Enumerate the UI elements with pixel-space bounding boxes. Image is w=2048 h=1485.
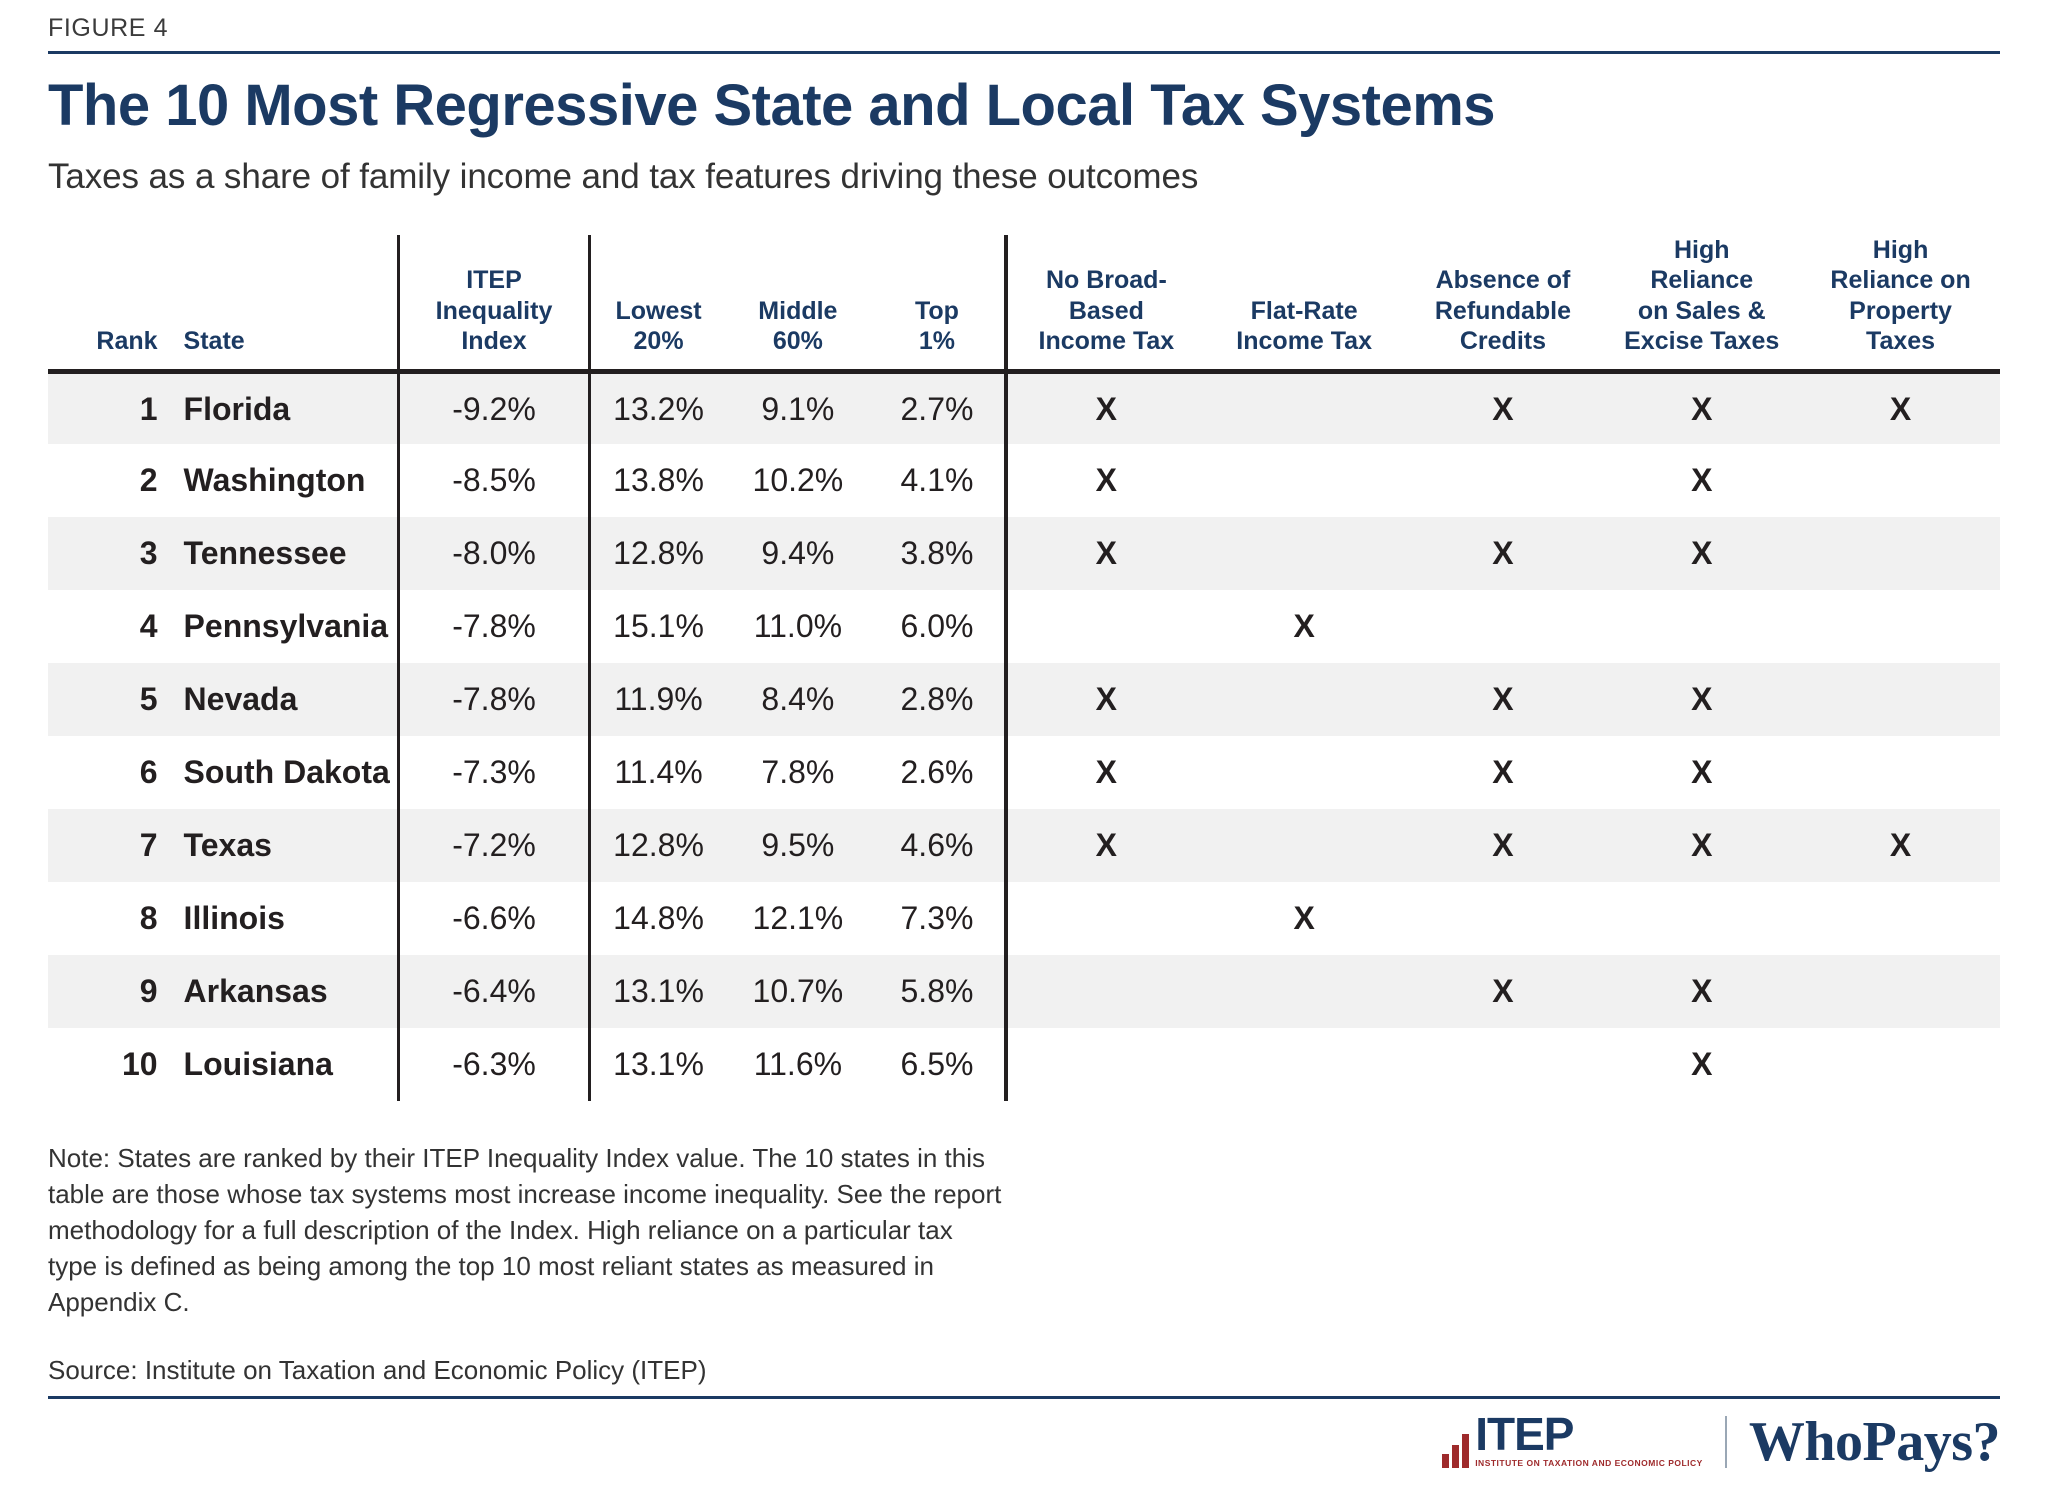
header-line-1: High <box>1801 235 2000 266</box>
table-row: 7Texas-7.2%12.8%9.5%4.6%XXXX <box>48 809 2000 882</box>
header-line-2: Inequality <box>400 296 589 327</box>
cell-flat-rate-income-tax <box>1205 809 1404 882</box>
cell-itep-index: -8.5% <box>398 444 590 517</box>
column-header-high-reliance-property: High Reliance on Property Taxes <box>1801 235 2000 372</box>
table-row: 9Arkansas-6.4%13.1%10.7%5.8%XX <box>48 955 2000 1028</box>
cell-flat-rate-income-tax: X <box>1205 590 1404 663</box>
cell-flat-rate-income-tax <box>1205 517 1404 590</box>
cell-flat-rate-income-tax <box>1205 736 1404 809</box>
header-line-4: Taxes <box>1801 326 2000 357</box>
cell-absence-refundable-credits <box>1404 590 1603 663</box>
cell-absence-refundable-credits: X <box>1404 371 1603 444</box>
cell-absence-refundable-credits <box>1404 444 1603 517</box>
cell-middle-60: 9.5% <box>726 809 870 882</box>
cell-high-reliance-property <box>1801 955 2000 1028</box>
cell-itep-index: -6.4% <box>398 955 590 1028</box>
cell-lowest-20: 13.8% <box>590 444 726 517</box>
cell-high-reliance-sales-excise: X <box>1602 444 1801 517</box>
header-line-3: Credits <box>1404 326 1603 357</box>
column-header-rank: Rank <box>48 235 170 372</box>
header-line-3: on Sales & <box>1602 296 1801 327</box>
header-text-state: State <box>184 327 245 355</box>
cell-top-1: 4.6% <box>870 809 1006 882</box>
cell-top-1: 2.6% <box>870 736 1006 809</box>
cell-flat-rate-income-tax: X <box>1205 882 1404 955</box>
cell-middle-60: 8.4% <box>726 663 870 736</box>
column-header-top-1: Top 1% <box>870 235 1006 372</box>
cell-high-reliance-property <box>1801 590 2000 663</box>
cell-high-reliance-property <box>1801 444 2000 517</box>
cell-top-1: 6.0% <box>870 590 1006 663</box>
table-row: 3Tennessee-8.0%12.8%9.4%3.8%XXX <box>48 517 2000 590</box>
cell-no-broad-based-income-tax: X <box>1006 517 1205 590</box>
column-header-no-broad-based-income-tax: No Broad- Based Income Tax <box>1006 235 1205 372</box>
cell-state: Texas <box>170 809 399 882</box>
header-line-1: Absence of <box>1404 265 1603 296</box>
header-line-2: Income Tax <box>1205 326 1404 357</box>
cell-no-broad-based-income-tax <box>1006 882 1205 955</box>
regressive-tax-table: Rank State ITEP Inequality Index Lowest … <box>48 235 2000 1102</box>
cell-high-reliance-property: X <box>1801 371 2000 444</box>
cell-rank: 8 <box>48 882 170 955</box>
cell-high-reliance-property <box>1801 736 2000 809</box>
cell-lowest-20: 13.1% <box>590 955 726 1028</box>
cell-absence-refundable-credits <box>1404 882 1603 955</box>
cell-lowest-20: 15.1% <box>590 590 726 663</box>
bottom-rule <box>48 1396 2000 1399</box>
itep-wordmark: ITEP <box>1475 1416 1703 1454</box>
cell-state: Nevada <box>170 663 399 736</box>
column-header-state: State <box>170 235 399 372</box>
cell-itep-index: -6.3% <box>398 1028 590 1101</box>
cell-state: Arkansas <box>170 955 399 1028</box>
cell-lowest-20: 12.8% <box>590 517 726 590</box>
cell-flat-rate-income-tax <box>1205 663 1404 736</box>
page-title: The 10 Most Regressive State and Local T… <box>48 54 2000 137</box>
cell-high-reliance-sales-excise: X <box>1602 371 1801 444</box>
cell-rank: 9 <box>48 955 170 1028</box>
cell-top-1: 2.8% <box>870 663 1006 736</box>
header-line-1: Lowest <box>591 296 725 327</box>
column-header-absence-of-refundable-credits: Absence of Refundable Credits <box>1404 235 1603 372</box>
cell-no-broad-based-income-tax <box>1006 1028 1205 1101</box>
header-line-2: Reliance <box>1602 265 1801 296</box>
table-container: Rank State ITEP Inequality Index Lowest … <box>48 197 2000 1102</box>
cell-flat-rate-income-tax <box>1205 955 1404 1028</box>
header-line-3: Income Tax <box>1008 326 1205 357</box>
cell-rank: 5 <box>48 663 170 736</box>
header-line-1: High <box>1602 235 1801 266</box>
cell-rank: 6 <box>48 736 170 809</box>
header-line-1: ITEP <box>400 265 589 296</box>
header-text-rank: Rank <box>96 327 157 355</box>
cell-middle-60: 9.1% <box>726 371 870 444</box>
cell-top-1: 7.3% <box>870 882 1006 955</box>
page-subtitle: Taxes as a share of family income and ta… <box>48 137 2000 197</box>
header-line-2: Reliance on <box>1801 265 2000 296</box>
table-note: Note: States are ranked by their ITEP In… <box>48 1101 1008 1320</box>
cell-high-reliance-property <box>1801 1028 2000 1101</box>
header-line-1: Flat-Rate <box>1205 296 1404 327</box>
cell-lowest-20: 11.9% <box>590 663 726 736</box>
header-line-1: Middle <box>726 296 870 327</box>
header-line-1: No Broad- <box>1008 265 1205 296</box>
cell-top-1: 3.8% <box>870 517 1006 590</box>
table-row: 4Pennsylvania-7.8%15.1%11.0%6.0%X <box>48 590 2000 663</box>
cell-state: Florida <box>170 371 399 444</box>
cell-no-broad-based-income-tax <box>1006 955 1205 1028</box>
column-header-middle-60: Middle 60% <box>726 235 870 372</box>
column-header-flat-rate-income-tax: Flat-Rate Income Tax <box>1205 235 1404 372</box>
cell-state: Washington <box>170 444 399 517</box>
cell-no-broad-based-income-tax: X <box>1006 371 1205 444</box>
cell-absence-refundable-credits: X <box>1404 663 1603 736</box>
cell-rank: 2 <box>48 444 170 517</box>
header-line-1: Top <box>870 296 1004 327</box>
bar-chart-icon <box>1442 1434 1469 1468</box>
cell-no-broad-based-income-tax: X <box>1006 809 1205 882</box>
header-line-2: 1% <box>870 326 1004 357</box>
table-row: 5Nevada-7.8%11.9%8.4%2.8%XXX <box>48 663 2000 736</box>
cell-rank: 7 <box>48 809 170 882</box>
cell-middle-60: 10.7% <box>726 955 870 1028</box>
cell-absence-refundable-credits <box>1404 1028 1603 1101</box>
cell-absence-refundable-credits: X <box>1404 955 1603 1028</box>
cell-no-broad-based-income-tax <box>1006 590 1205 663</box>
footer-logos: ITEP INSTITUTE ON TAXATION AND ECONOMIC … <box>1442 1405 2000 1479</box>
cell-middle-60: 12.1% <box>726 882 870 955</box>
cell-high-reliance-sales-excise: X <box>1602 663 1801 736</box>
cell-high-reliance-sales-excise: X <box>1602 955 1801 1028</box>
cell-flat-rate-income-tax <box>1205 371 1404 444</box>
column-header-high-reliance-sales-excise: High Reliance on Sales & Excise Taxes <box>1602 235 1801 372</box>
table-row: 1Florida-9.2%13.2%9.1%2.7%XXXX <box>48 371 2000 444</box>
cell-state: South Dakota <box>170 736 399 809</box>
cell-itep-index: -7.2% <box>398 809 590 882</box>
cell-middle-60: 10.2% <box>726 444 870 517</box>
cell-state: Louisiana <box>170 1028 399 1101</box>
cell-itep-index: -6.6% <box>398 882 590 955</box>
cell-flat-rate-income-tax <box>1205 1028 1404 1101</box>
cell-no-broad-based-income-tax: X <box>1006 736 1205 809</box>
header-line-3: Index <box>400 326 589 357</box>
cell-middle-60: 11.6% <box>726 1028 870 1101</box>
cell-lowest-20: 13.1% <box>590 1028 726 1101</box>
cell-middle-60: 9.4% <box>726 517 870 590</box>
cell-high-reliance-sales-excise: X <box>1602 1028 1801 1101</box>
cell-top-1: 6.5% <box>870 1028 1006 1101</box>
cell-flat-rate-income-tax <box>1205 444 1404 517</box>
cell-absence-refundable-credits: X <box>1404 809 1603 882</box>
cell-high-reliance-property <box>1801 882 2000 955</box>
cell-high-reliance-sales-excise: X <box>1602 736 1801 809</box>
itep-logo: ITEP INSTITUTE ON TAXATION AND ECONOMIC … <box>1442 1416 1703 1469</box>
cell-high-reliance-property <box>1801 517 2000 590</box>
header-line-2: 60% <box>726 326 870 357</box>
cell-state: Pennsylvania <box>170 590 399 663</box>
table-row: 6South Dakota-7.3%11.4%7.8%2.6%XXX <box>48 736 2000 809</box>
header-line-3: Property <box>1801 296 2000 327</box>
header-line-2: Based <box>1008 296 1205 327</box>
cell-lowest-20: 11.4% <box>590 736 726 809</box>
cell-high-reliance-sales-excise <box>1602 882 1801 955</box>
cell-lowest-20: 12.8% <box>590 809 726 882</box>
cell-state: Illinois <box>170 882 399 955</box>
cell-lowest-20: 14.8% <box>590 882 726 955</box>
table-row: 8Illinois-6.6%14.8%12.1%7.3%X <box>48 882 2000 955</box>
logo-divider <box>1725 1416 1727 1468</box>
cell-top-1: 5.8% <box>870 955 1006 1028</box>
table-body: 1Florida-9.2%13.2%9.1%2.7%XXXX2Washingto… <box>48 371 2000 1101</box>
cell-high-reliance-sales-excise <box>1602 590 1801 663</box>
table-header-row: Rank State ITEP Inequality Index Lowest … <box>48 235 2000 372</box>
cell-itep-index: -8.0% <box>398 517 590 590</box>
cell-itep-index: -7.8% <box>398 590 590 663</box>
header-line-2: 20% <box>591 326 725 357</box>
cell-absence-refundable-credits: X <box>1404 517 1603 590</box>
cell-itep-index: -9.2% <box>398 371 590 444</box>
cell-rank: 4 <box>48 590 170 663</box>
header-line-4: Excise Taxes <box>1602 326 1801 357</box>
cell-high-reliance-sales-excise: X <box>1602 517 1801 590</box>
column-header-itep-index: ITEP Inequality Index <box>398 235 590 372</box>
source-line: Source: Institute on Taxation and Econom… <box>48 1321 2000 1386</box>
header-line-2: Refundable <box>1404 296 1603 327</box>
cell-high-reliance-property <box>1801 663 2000 736</box>
cell-no-broad-based-income-tax: X <box>1006 444 1205 517</box>
cell-absence-refundable-credits: X <box>1404 736 1603 809</box>
cell-no-broad-based-income-tax: X <box>1006 663 1205 736</box>
figure-page: FIGURE 4 The 10 Most Regressive State an… <box>0 0 2048 1485</box>
cell-itep-index: -7.3% <box>398 736 590 809</box>
cell-rank: 3 <box>48 517 170 590</box>
cell-rank: 1 <box>48 371 170 444</box>
table-row: 2Washington-8.5%13.8%10.2%4.1%XX <box>48 444 2000 517</box>
column-header-lowest-20: Lowest 20% <box>590 235 726 372</box>
cell-high-reliance-sales-excise: X <box>1602 809 1801 882</box>
table-row: 10Louisiana-6.3%13.1%11.6%6.5%X <box>48 1028 2000 1101</box>
whopays-wordmark: WhoPays? <box>1749 1414 2000 1470</box>
table-head: Rank State ITEP Inequality Index Lowest … <box>48 235 2000 372</box>
cell-lowest-20: 13.2% <box>590 371 726 444</box>
cell-high-reliance-property: X <box>1801 809 2000 882</box>
cell-top-1: 2.7% <box>870 371 1006 444</box>
cell-rank: 10 <box>48 1028 170 1101</box>
figure-label: FIGURE 4 <box>48 0 2000 51</box>
cell-top-1: 4.1% <box>870 444 1006 517</box>
cell-middle-60: 11.0% <box>726 590 870 663</box>
cell-state: Tennessee <box>170 517 399 590</box>
cell-itep-index: -7.8% <box>398 663 590 736</box>
cell-middle-60: 7.8% <box>726 736 870 809</box>
